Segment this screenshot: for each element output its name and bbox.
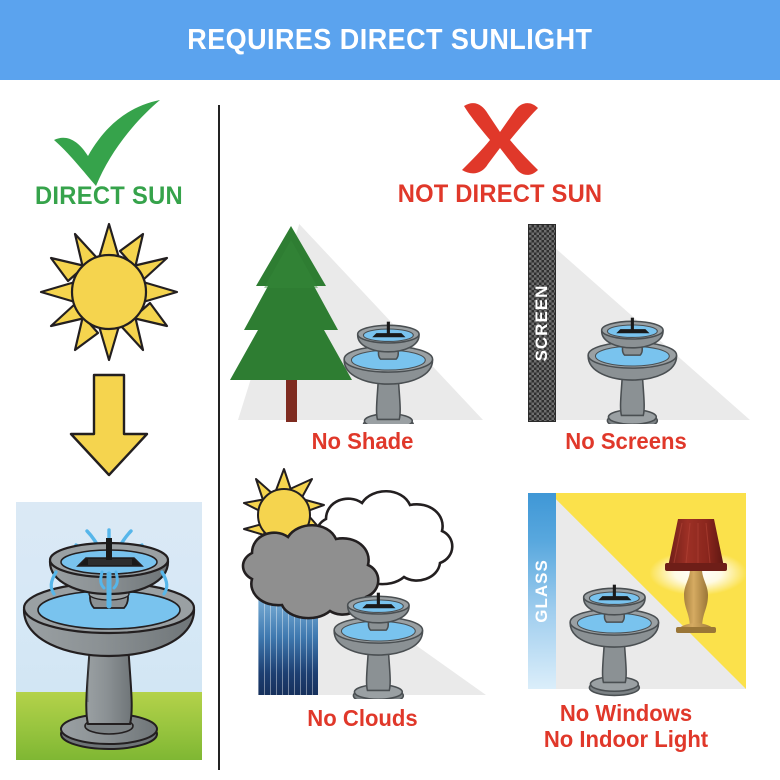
no-clouds-scene [230,467,495,699]
right-column-not-direct-sun: NOT DIRECT SUN [220,82,780,780]
down-arrow-icon [66,372,152,478]
no-windows-scene [492,467,760,699]
header-banner: REQUIRES DIRECT SUNLIGHT [0,0,780,80]
sun-icon-wrap [39,222,179,367]
red-x-icon [458,100,542,178]
green-check-icon-wrap [0,100,218,190]
table-lamp-icon [665,519,727,633]
quadrant-no-screens: SCREEN [492,222,760,467]
page-title: REQUIRES DIRECT SUNLIGHT [187,24,592,57]
down-arrow-icon-wrap [66,372,152,483]
quadrant-no-shade: No Shade [230,222,495,467]
bird-bath-small [344,322,432,424]
quadrant-no-windows: GLASS [492,467,760,747]
bird-bath-small [588,318,676,424]
not-direct-sun-label: NOT DIRECT SUN [234,180,766,209]
solar-bird-bath-fountain-photo [16,502,202,760]
direct-sun-label: DIRECT SUN [5,182,212,211]
bird-bath-small [570,585,658,696]
no-clouds-art [230,467,495,699]
no-shade-art [230,222,495,424]
no-clouds-caption: No Clouds [235,705,489,731]
quadrant-no-clouds: No Clouds [230,467,495,747]
no-windows-art: GLASS [492,467,760,699]
bird-bath-small [334,593,422,699]
sun-icon [39,222,179,362]
left-column-direct-sun: DIRECT SUN [0,82,218,780]
red-x-icon-wrap [220,100,780,180]
bird-bath-illustration [16,502,202,760]
infographic-root: REQUIRES DIRECT SUNLIGHT DIRECT SUN [0,0,780,780]
no-windows-caption-line2: No Indoor Light [497,726,754,752]
no-windows-caption: No Windows No Indoor Light [497,700,754,752]
no-windows-caption-line1: No Windows [497,700,754,726]
pine-tree-icon [230,226,352,422]
no-shade-caption: No Shade [235,428,489,454]
no-screens-scene [492,222,760,424]
no-shade-scene [230,222,495,424]
green-check-icon [44,100,174,186]
no-screens-art: SCREEN [492,222,760,424]
no-screens-caption: No Screens [497,428,754,454]
